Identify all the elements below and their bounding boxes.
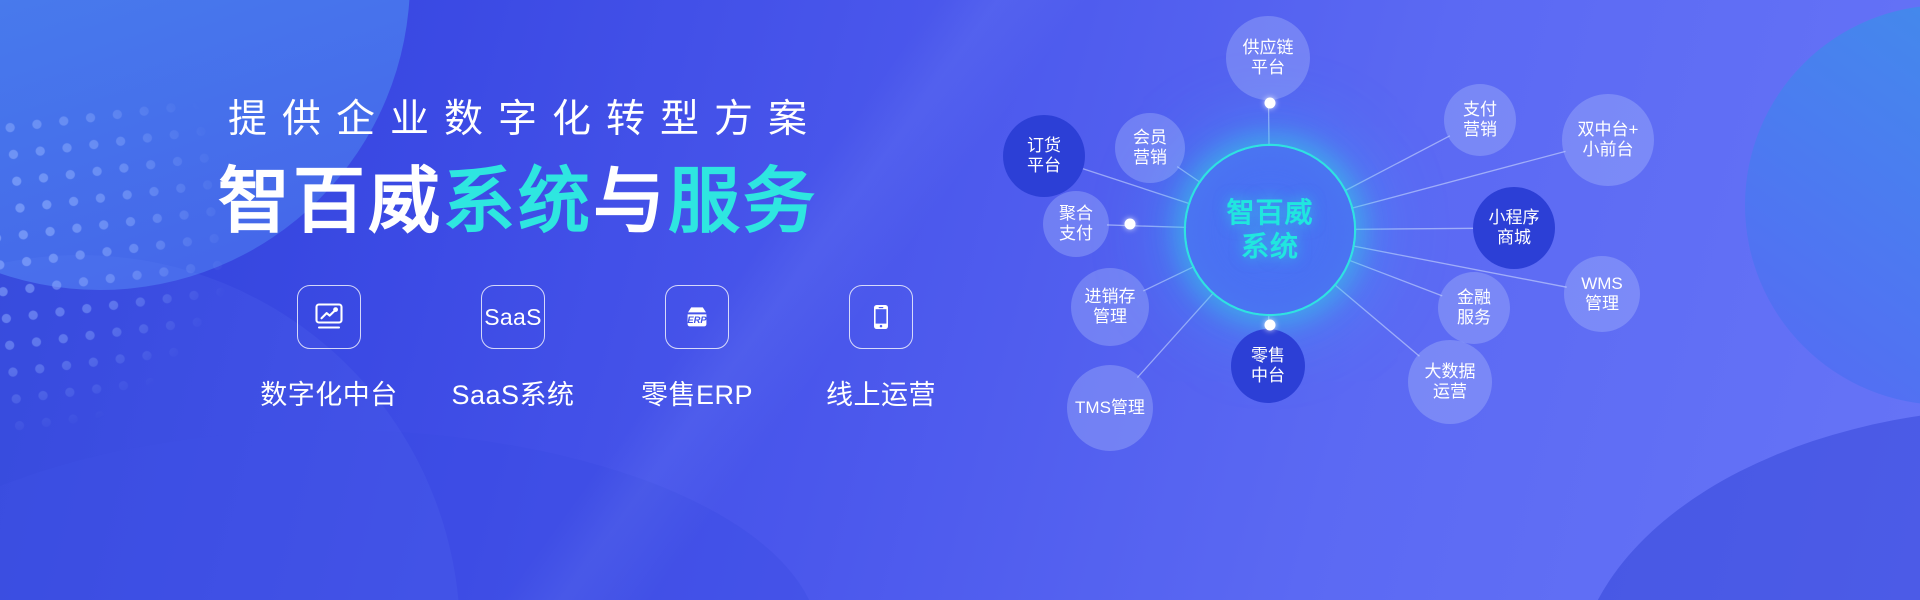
diagram-node-TMS管理[interactable]: TMS管理 [1067, 365, 1153, 451]
diagram-edge-TMS管理 [1137, 289, 1216, 377]
diagram-center-node[interactable]: 智百威 系统 [1186, 146, 1354, 314]
diagram-node-双中台plus-小前台[interactable]: 双中台+ 小前台 [1562, 94, 1654, 186]
feature-item-saas[interactable]: SaaS SaaS系统 [452, 285, 574, 412]
promo-banner: 提供企业数字化转型方案 智百威系统与服务 数字化中台 [0, 0, 1920, 600]
feature-list: 数字化中台 SaaS SaaS系统 ERP [268, 285, 942, 412]
diagram-node-金融-服务[interactable]: 金融 服务 [1438, 272, 1510, 344]
system-node-diagram: 智百威 系统供应链 平台支付 营销双中台+ 小前台小程序 商城WMS 管理金融 … [1020, 0, 1920, 600]
feature-icon-box [849, 285, 913, 349]
diagram-edge-聚合-支付 [1107, 225, 1190, 228]
diagram-edge-进销存-管理 [1143, 265, 1198, 291]
feature-icon-box [297, 285, 361, 349]
feature-item-digital-midplatform[interactable]: 数字化中台 [268, 285, 390, 412]
feature-label: SaaS系统 [451, 373, 574, 412]
feature-item-online-operations[interactable]: 线上运营 [820, 285, 942, 412]
saas-text-icon: SaaS [484, 304, 541, 331]
diagram-connector-dot-供应链-平台 [1265, 98, 1276, 109]
diagram-node-大数据-运营[interactable]: 大数据 运营 [1408, 340, 1492, 424]
svg-text:ERP: ERP [687, 314, 707, 325]
diagram-connector-dot-聚合-支付 [1125, 219, 1136, 230]
mobile-phone-icon [864, 300, 898, 334]
feature-item-retail-erp[interactable]: ERP 零售ERP [636, 285, 758, 412]
headline-part-4: 服务 [668, 162, 818, 242]
diagram-edge-支付-营销 [1341, 136, 1450, 193]
headline-part-3: 与 [593, 162, 668, 242]
feature-icon-box: ERP [665, 285, 729, 349]
hero-copy: 提供企业数字化转型方案 智百威系统与服务 数字化中台 [0, 0, 980, 600]
diagram-node-进销存-管理[interactable]: 进销存 管理 [1071, 268, 1149, 346]
headline-part-2: 系统 [443, 162, 593, 242]
hero-headline: 智百威系统与服务 [218, 166, 818, 238]
diagram-node-聚合-支付[interactable]: 聚合 支付 [1043, 191, 1109, 257]
chart-image-icon [312, 300, 346, 334]
diagram-connector-dot-零售-中台 [1265, 320, 1276, 331]
diagram-node-支付-营销[interactable]: 支付 营销 [1444, 84, 1516, 156]
diagram-edge-大数据-运营 [1331, 282, 1419, 357]
diagram-node-零售-中台[interactable]: 零售 中台 [1231, 329, 1305, 403]
feature-label: 零售ERP [641, 373, 753, 412]
diagram-edge-金融-服务 [1345, 259, 1443, 296]
erp-box-icon: ERP [680, 300, 714, 334]
diagram-edge-小程序-商城 [1350, 228, 1475, 229]
hero-subtitle: 提供企业数字化转型方案 [228, 100, 822, 139]
feature-label: 数字化中台 [260, 373, 398, 412]
diagram-center-label: 智百威 系统 [1226, 196, 1313, 263]
feature-label: 线上运营 [826, 373, 936, 412]
feature-icon-box: SaaS [481, 285, 545, 349]
diagram-node-小程序-商城[interactable]: 小程序 商城 [1473, 187, 1555, 269]
diagram-node-WMS-管理[interactable]: WMS 管理 [1564, 256, 1640, 332]
diagram-node-订货-平台[interactable]: 订货 平台 [1003, 115, 1085, 197]
diagram-node-供应链-平台[interactable]: 供应链 平台 [1226, 16, 1310, 100]
headline-part-1: 智百威 [218, 162, 443, 242]
diagram-node-会员-营销[interactable]: 会员 营销 [1115, 113, 1185, 183]
